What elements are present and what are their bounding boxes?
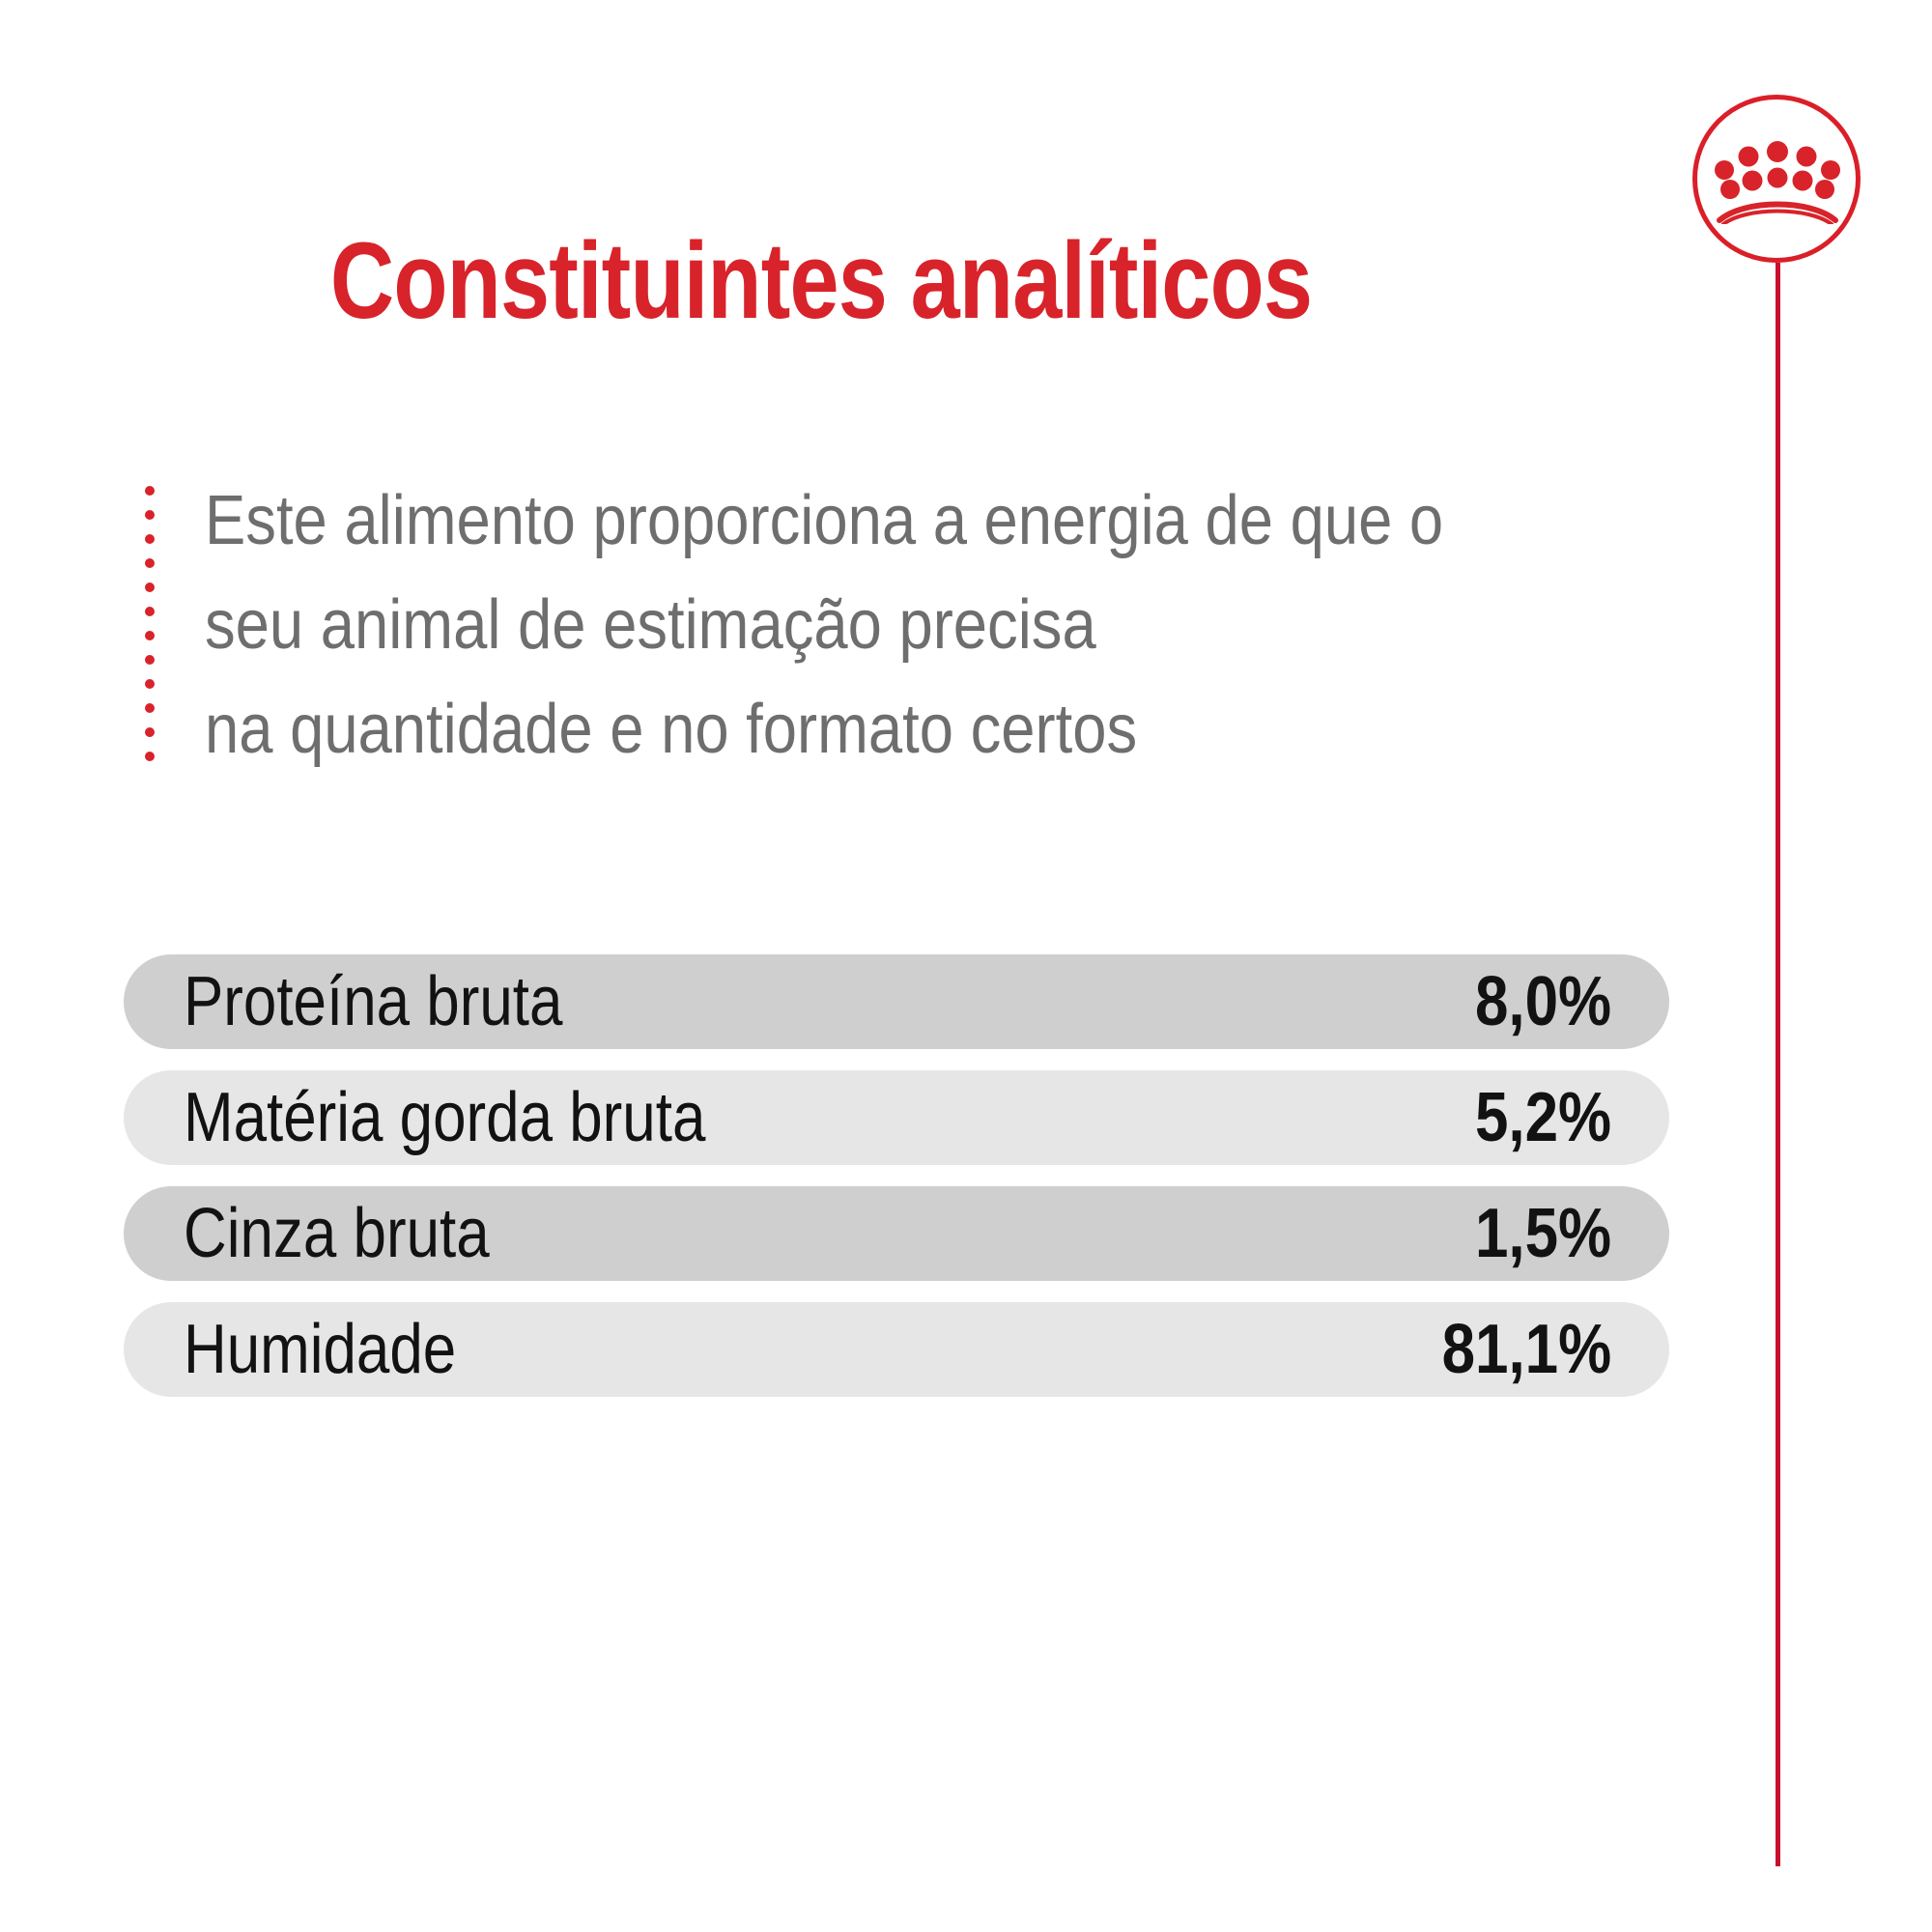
constituent-value: 8,0%: [1475, 967, 1611, 1037]
constituents-table: Proteína bruta 8,0% Matéria gorda bruta …: [124, 954, 1669, 1418]
rail-dot: [145, 582, 155, 592]
rail-dot: [145, 655, 155, 665]
rail-dot: [145, 510, 155, 520]
table-row: Humidade 81,1%: [124, 1302, 1669, 1397]
rail-dot: [145, 607, 155, 616]
table-row: Matéria gorda bruta 5,2%: [124, 1070, 1669, 1165]
rail-dot: [145, 486, 155, 496]
brand-logo: [1692, 95, 1866, 269]
intro-line-3: na quantidade e no formato certos: [205, 677, 1443, 781]
rail-dot: [145, 631, 155, 640]
rail-dot: [145, 679, 155, 689]
constituent-label: Proteína bruta: [184, 967, 562, 1037]
rail-dot: [145, 727, 155, 737]
table-row: Cinza bruta 1,5%: [124, 1186, 1669, 1281]
constituent-value: 5,2%: [1475, 1083, 1611, 1152]
rail-dot: [145, 534, 155, 544]
rail-dot: [145, 752, 155, 761]
constituent-label: Humidade: [184, 1315, 456, 1384]
constituent-label: Cinza bruta: [184, 1199, 490, 1268]
table-row: Proteína bruta 8,0%: [124, 954, 1669, 1049]
intro-line-2: seu animal de estimação precisa: [205, 573, 1443, 677]
constituent-value: 1,5%: [1475, 1199, 1611, 1268]
poster-canvas: Constituintes analíticos Este alimento p…: [0, 0, 1932, 1932]
constituent-label: Matéria gorda bruta: [184, 1083, 705, 1152]
royal-canin-crown-icon: [1714, 135, 1841, 224]
accent-vertical-line: [1776, 263, 1780, 1866]
intro-line-1: Este alimento proporciona a energia de q…: [205, 469, 1443, 573]
dotted-rail-decoration: [145, 486, 158, 761]
intro-paragraph: Este alimento proporciona a energia de q…: [205, 469, 1443, 781]
rail-dot: [145, 558, 155, 568]
intro-section: Este alimento proporciona a energia de q…: [145, 469, 1594, 781]
rail-dot: [145, 703, 155, 713]
constituent-value: 81,1%: [1441, 1315, 1611, 1384]
page-title: Constituintes analíticos: [148, 227, 1494, 335]
